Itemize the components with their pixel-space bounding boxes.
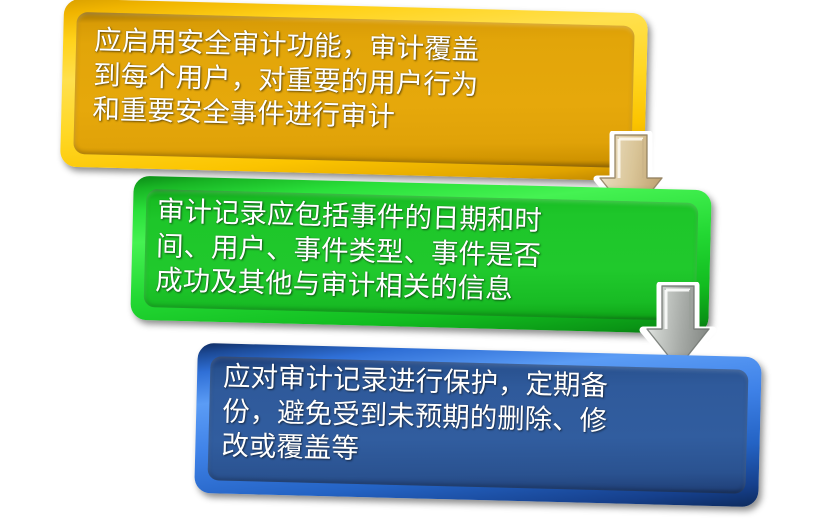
callout-line-2-3: 成功及其他与审计相关的信息	[155, 264, 513, 305]
callout-line-1-3: 和重要安全事件进行审计	[92, 93, 395, 133]
callout-box-step-1[interactable]: 应启用安全审计功能，审计覆盖 到每个用户，对重要的用户行为 和重要安全事件进行审…	[60, 0, 648, 181]
callout-line-3-3: 改或覆盖等	[221, 430, 359, 465]
callout-text-step-1: 应启用安全审计功能，审计覆盖 到每个用户，对重要的用户行为 和重要安全事件进行审…	[92, 23, 614, 140]
callout-box-step-3[interactable]: 应对审计记录进行保护，定期备 份，避免受到未预期的删除、修 改或覆盖等	[194, 343, 762, 507]
callout-box-step-2[interactable]: 审计记录应包括事件的日期和时 间、用户、事件类型、事件是否 成功及其他与审计相关…	[130, 176, 711, 335]
callout-text-step-2: 审计记录应包括事件的日期和时 间、用户、事件类型、事件是否 成功及其他与审计相关…	[155, 194, 662, 310]
diagram-canvas: 应启用安全审计功能，审计覆盖 到每个用户，对重要的用户行为 和重要安全事件进行审…	[0, 0, 816, 524]
callout-text-step-3: 应对审计记录进行保护，定期备 份，避免受到未预期的删除、修 改或覆盖等	[221, 360, 723, 476]
